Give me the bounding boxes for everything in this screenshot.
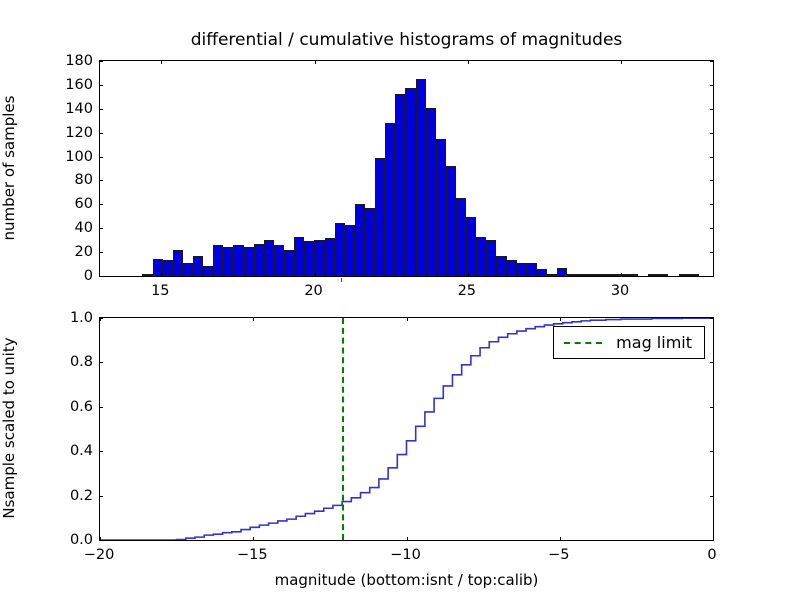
histogram-bar: [608, 274, 618, 276]
top-xtick-mark: [161, 60, 162, 64]
top-ytick-label: 0: [35, 268, 93, 284]
top-xtick-label: 20: [304, 283, 322, 299]
histogram-bar: [142, 274, 152, 276]
mag-limit-tick: [341, 278, 342, 282]
top-xtick-mark: [621, 273, 622, 277]
histogram-bar: [294, 237, 304, 276]
histogram-bar: [476, 237, 486, 276]
bottom-panel-xlabel: magnitude (bottom:isnt / top:calib): [99, 571, 714, 589]
top-ytick-mark: [99, 180, 103, 181]
bottom-ytick-mark: [99, 540, 103, 541]
top-ytick-label: 140: [35, 101, 93, 117]
histogram-bar: [547, 274, 557, 276]
top-ytick-label: 80: [35, 172, 93, 188]
mag-limit-line: [342, 318, 344, 540]
top-xtick-label: 25: [458, 283, 476, 299]
top-ytick-mark: [710, 180, 714, 181]
histogram-bar: [436, 139, 446, 276]
histogram-bar: [385, 123, 395, 276]
top-ytick-mark: [99, 61, 103, 62]
top-ytick-mark: [710, 85, 714, 86]
histogram-bar: [193, 256, 203, 276]
top-ytick-mark: [99, 109, 103, 110]
bottom-ytick-mark: [99, 318, 103, 319]
top-xtick-mark: [161, 273, 162, 277]
histogram-bar: [456, 198, 466, 276]
histogram-bar: [658, 274, 668, 276]
histogram-bar: [223, 247, 233, 276]
bottom-ytick-label: 0.8: [35, 354, 93, 370]
histogram-bar: [486, 240, 496, 276]
top-panel-axes: [99, 60, 714, 277]
bottom-ytick-mark: [99, 496, 103, 497]
top-ytick-mark: [99, 133, 103, 134]
histogram-bar: [173, 250, 183, 276]
histogram-bar: [648, 274, 658, 276]
top-ytick-mark: [99, 157, 103, 158]
top-ytick-mark: [99, 85, 103, 86]
top-ytick-mark: [99, 252, 103, 253]
top-ytick-label: 180: [35, 53, 93, 69]
bottom-ytick-label: 0.2: [35, 488, 93, 504]
top-ytick-mark: [710, 133, 714, 134]
top-xtick-mark: [315, 273, 316, 277]
bottom-xtick-label: −20: [84, 547, 115, 563]
histogram-bar: [527, 263, 537, 276]
top-ytick-mark: [710, 252, 714, 253]
top-xtick-label: 30: [611, 283, 629, 299]
top-ytick-label: 160: [35, 77, 93, 93]
histogram-bar: [345, 225, 355, 276]
histogram-bar: [557, 268, 567, 276]
histogram-bar: [628, 274, 638, 276]
top-ytick-mark: [99, 276, 103, 277]
top-xtick-mark: [315, 60, 316, 64]
top-ytick-mark: [710, 157, 714, 158]
bottom-ytick-mark: [710, 407, 714, 408]
histogram-bar: [577, 274, 587, 276]
histogram-bar: [375, 158, 385, 276]
bottom-xtick-label: −5: [548, 547, 569, 563]
top-ytick-mark: [710, 276, 714, 277]
histogram-bar: [203, 266, 213, 276]
figure-title: differential / cumulative histograms of …: [99, 30, 714, 50]
histogram-bar: [335, 223, 345, 276]
top-ytick-mark: [710, 228, 714, 229]
top-ytick-label: 100: [35, 149, 93, 165]
histogram-bar: [365, 208, 375, 276]
bottom-xtick-mark: [407, 317, 408, 321]
bottom-xtick-label: −15: [237, 547, 268, 563]
histogram-bar: [163, 260, 173, 276]
top-ytick-label: 120: [35, 125, 93, 141]
bottom-panel-ylabel: Nsample scaled to unity: [0, 313, 18, 543]
bottom-xtick-mark: [407, 537, 408, 541]
histogram-bar: [587, 274, 597, 276]
bottom-ytick-mark: [710, 540, 714, 541]
histogram-bar: [517, 263, 527, 276]
histogram-bar: [395, 94, 405, 276]
histogram-bar: [233, 245, 243, 276]
histogram-bar: [689, 274, 699, 276]
histogram-bar: [213, 245, 223, 276]
bottom-xtick-label: 0: [707, 547, 716, 563]
bottom-ytick-label: 0.6: [35, 399, 93, 415]
histogram-bar: [264, 240, 274, 276]
histogram-bar: [446, 166, 456, 276]
matplotlib-figure: differential / cumulative histograms of …: [0, 0, 800, 600]
bottom-xtick-mark: [253, 537, 254, 541]
bottom-ytick-label: 0.4: [35, 443, 93, 459]
histogram-bar: [405, 88, 415, 276]
bottom-ytick-mark: [710, 362, 714, 363]
top-ytick-mark: [710, 61, 714, 62]
histogram-bar: [355, 204, 365, 276]
bottom-xtick-label: −10: [390, 547, 421, 563]
histogram-bar: [537, 269, 547, 276]
bottom-ytick-label: 1.0: [35, 310, 93, 326]
top-ytick-label: 20: [35, 244, 93, 260]
legend[interactable]: mag limit: [553, 326, 705, 359]
histogram-bar: [507, 260, 517, 276]
top-ytick-mark: [99, 228, 103, 229]
histogram-bar: [183, 263, 193, 276]
histogram-bar: [426, 108, 436, 276]
bottom-xtick-mark: [560, 537, 561, 541]
histogram-bar: [325, 238, 335, 276]
top-xtick-mark: [468, 273, 469, 277]
top-ytick-label: 40: [35, 220, 93, 236]
histogram-bar: [679, 274, 689, 276]
top-ytick-mark: [710, 109, 714, 110]
top-panel-ylabel: number of samples: [0, 58, 18, 278]
top-ytick-mark: [99, 204, 103, 205]
histogram-bar: [254, 244, 264, 276]
bottom-xtick-mark: [560, 317, 561, 321]
bottom-ytick-mark: [710, 496, 714, 497]
top-ytick-label: 60: [35, 196, 93, 212]
mag-limit-legend-label: mag limit: [616, 333, 692, 352]
histogram-bar: [466, 217, 476, 276]
top-xtick-label: 15: [151, 283, 169, 299]
bottom-ytick-mark: [99, 362, 103, 363]
top-xtick-mark: [621, 60, 622, 64]
histogram-plot-area: [100, 61, 713, 276]
histogram-bar: [244, 247, 254, 276]
histogram-bar: [274, 245, 284, 276]
bottom-panel-axes: mag limit: [99, 317, 714, 541]
histogram-bar: [496, 256, 506, 276]
histogram-bar: [598, 274, 608, 276]
bottom-ytick-mark: [99, 407, 103, 408]
histogram-bar: [314, 240, 324, 276]
top-ytick-mark: [710, 204, 714, 205]
mag-limit-legend-swatch: [564, 342, 602, 344]
bottom-ytick-mark: [99, 451, 103, 452]
histogram-bar: [304, 241, 314, 276]
bottom-ytick-mark: [710, 318, 714, 319]
histogram-bar: [567, 274, 577, 276]
histogram-bar: [284, 250, 294, 276]
histogram-bar: [416, 79, 426, 276]
top-xtick-mark: [468, 60, 469, 64]
bottom-xtick-mark: [253, 317, 254, 321]
bottom-ytick-mark: [710, 451, 714, 452]
bottom-ytick-label: 0.0: [35, 532, 93, 548]
histogram-bar: [618, 274, 628, 276]
